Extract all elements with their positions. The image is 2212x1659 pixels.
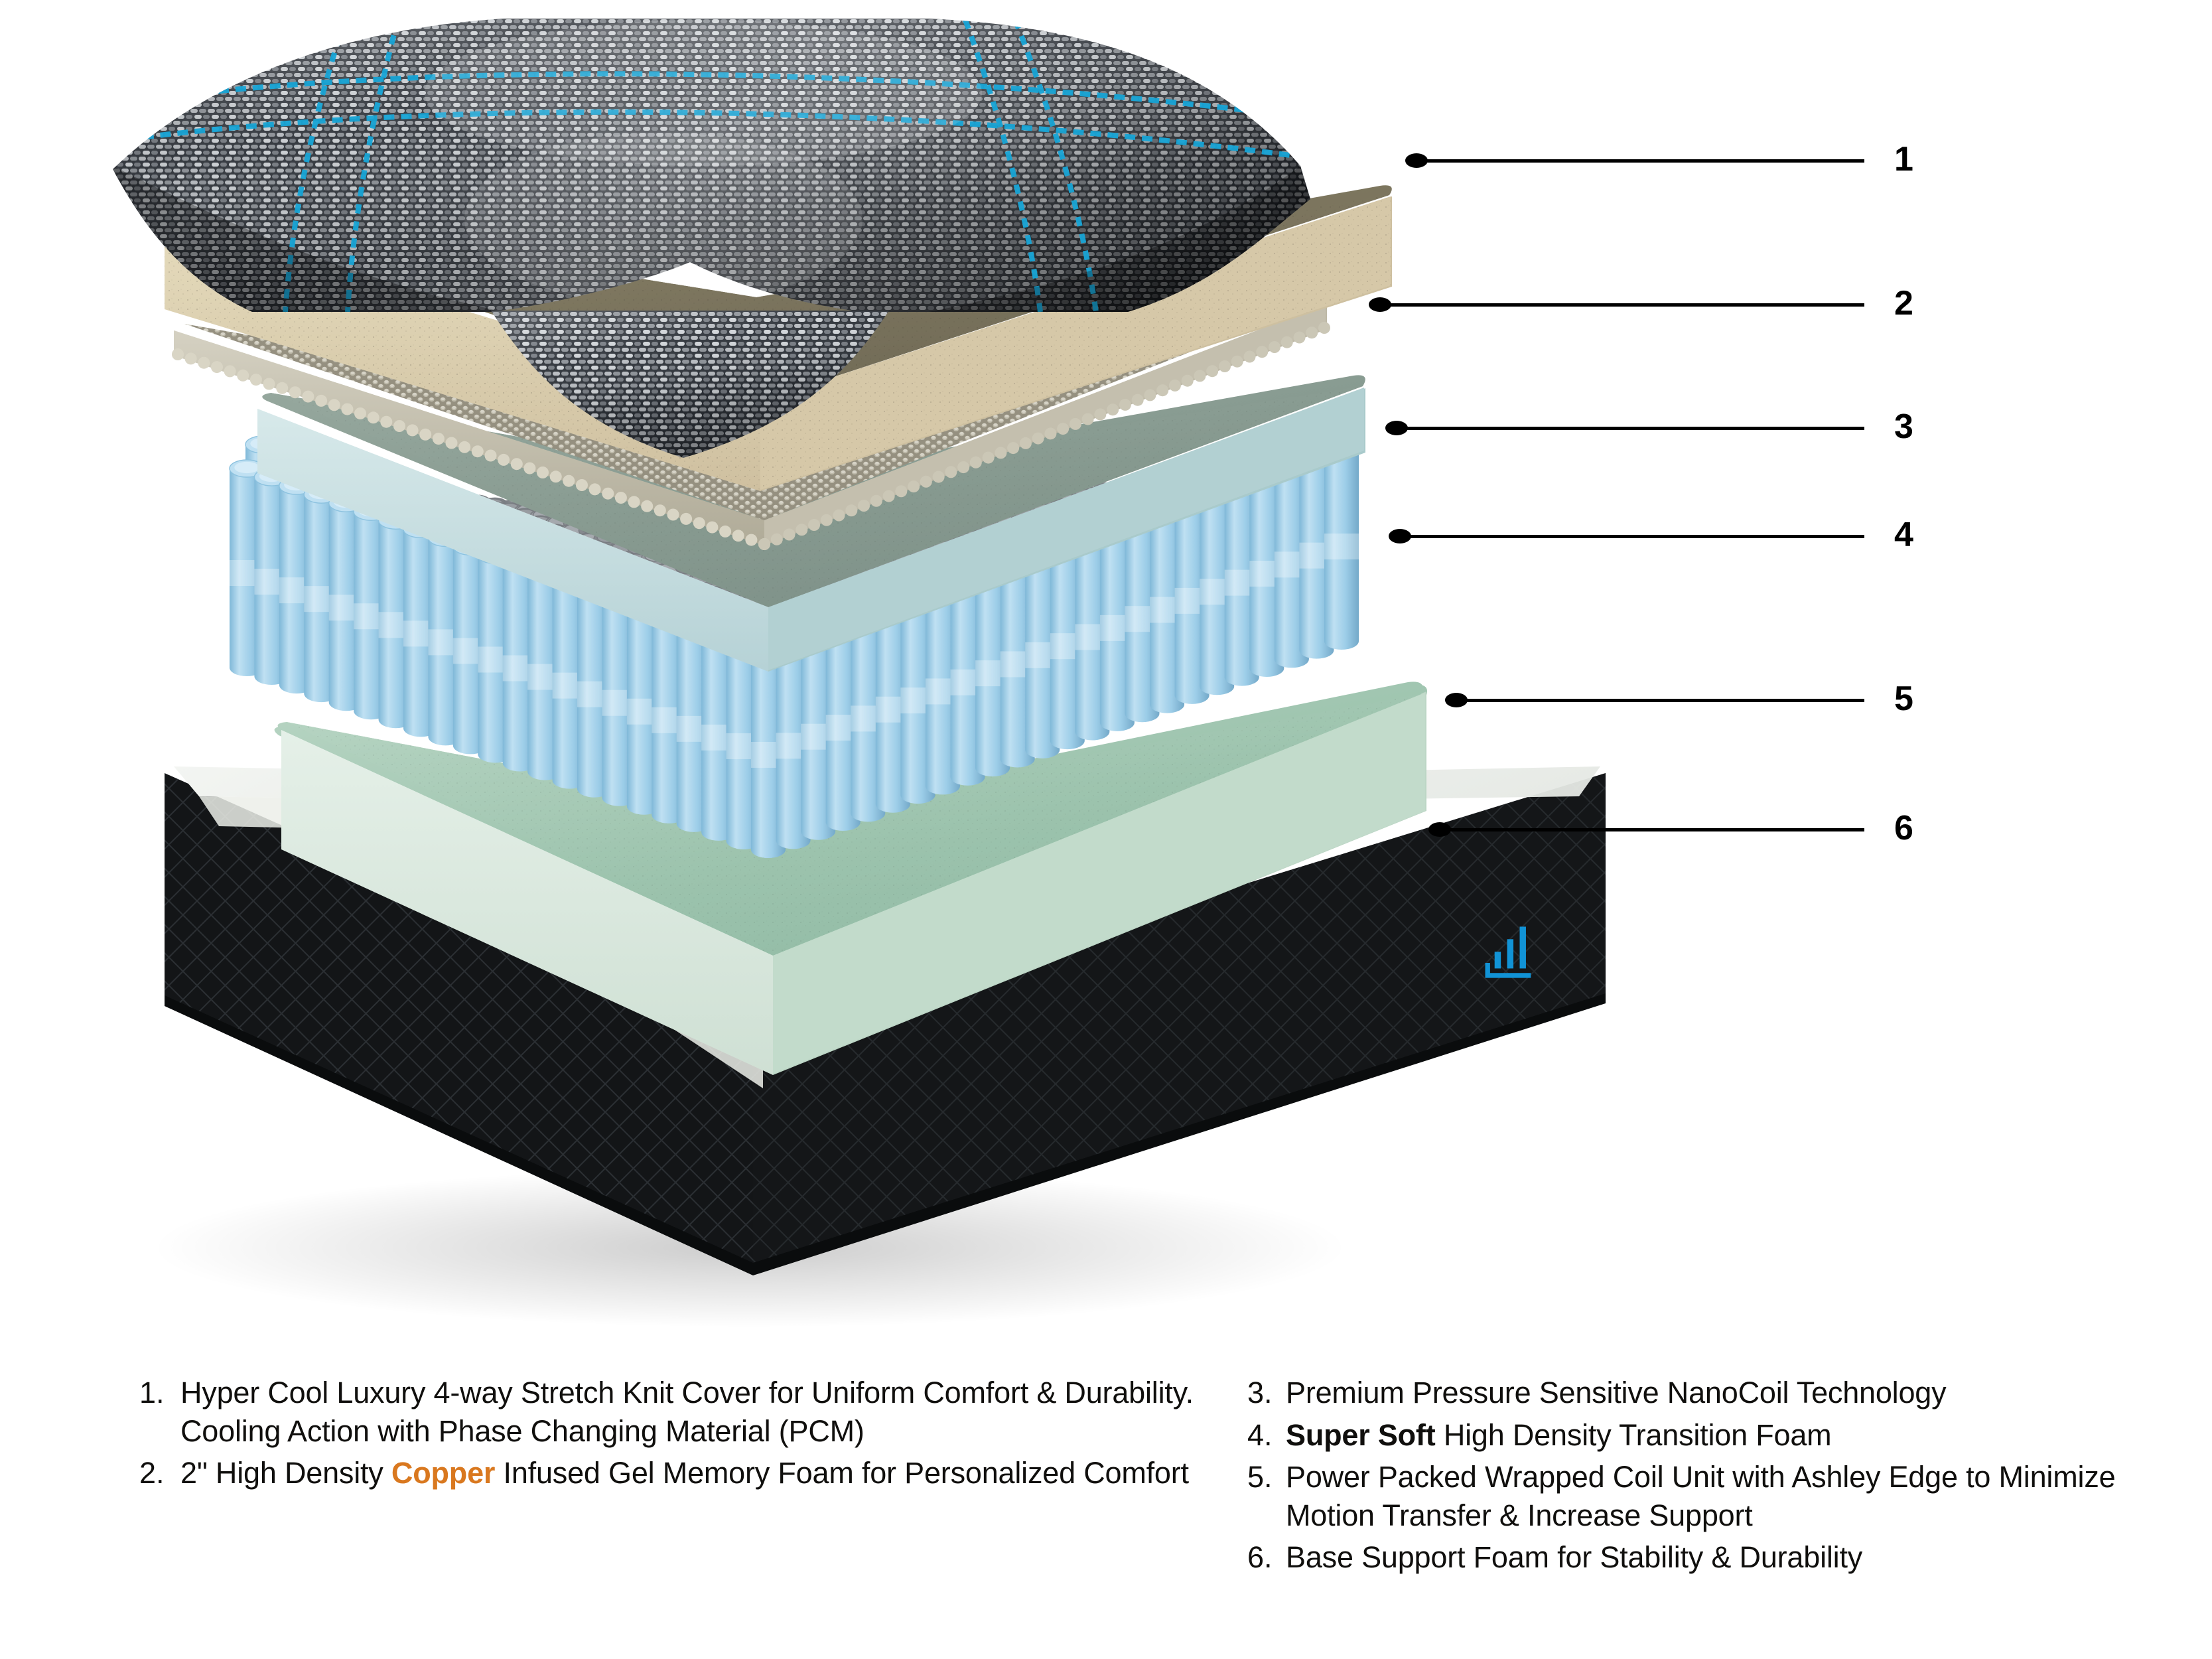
- legend-text: Power Packed Wrapped Coil Unit with Ashl…: [1286, 1458, 2189, 1534]
- callout-number-2: 2: [1894, 286, 1913, 321]
- callout-dot-6: [1428, 822, 1451, 837]
- mattress-exploded-illustration: [0, 0, 1659, 1360]
- legend-marker: 2.: [139, 1454, 180, 1492]
- callout-number-4: 4: [1894, 518, 1913, 552]
- legend-left-column: 1.Hyper Cool Luxury 4-way Stretch Knit C…: [139, 1374, 1201, 1496]
- legend-marker: 4.: [1247, 1416, 1286, 1455]
- callout-number-5: 5: [1894, 682, 1913, 716]
- legend-marker: 6.: [1247, 1538, 1286, 1577]
- legend: 1.Hyper Cool Luxury 4-way Stretch Knit C…: [0, 1374, 2212, 1659]
- diagram-canvas: 123456 1.Hyper Cool Luxury 4-way Stretch…: [0, 0, 2212, 1659]
- legend-marker: 3.: [1247, 1374, 1286, 1412]
- callout-dot-5: [1445, 693, 1468, 707]
- callout-line-3: [1407, 427, 1864, 430]
- callout-number-3: 3: [1894, 409, 1913, 444]
- callout-line-5: [1466, 699, 1864, 702]
- callout-dot-3: [1385, 421, 1408, 435]
- callout-line-1: [1426, 159, 1864, 163]
- legend-marker: 5.: [1247, 1458, 1286, 1496]
- callout-number-6: 6: [1894, 811, 1913, 845]
- hyper-cool-knit-cover: [80, 0, 1380, 458]
- callout-number-1: 1: [1894, 142, 1913, 177]
- legend-item-2: 2.2" High Density Copper Infused Gel Mem…: [139, 1454, 1201, 1492]
- legend-item-5: 5.Power Packed Wrapped Coil Unit with As…: [1247, 1458, 2189, 1534]
- legend-text: 2" High Density Copper Infused Gel Memor…: [180, 1454, 1189, 1492]
- legend-text: Super Soft High Density Transition Foam: [1286, 1416, 1831, 1455]
- callout-line-6: [1450, 828, 1864, 831]
- legend-text: Premium Pressure Sensitive NanoCoil Tech…: [1286, 1374, 1946, 1412]
- callout-dot-1: [1405, 153, 1428, 168]
- callout-line-4: [1410, 535, 1864, 538]
- legend-marker: 1.: [139, 1374, 180, 1412]
- legend-text: Base Support Foam for Stability & Durabi…: [1286, 1538, 1862, 1577]
- legend-text: Hyper Cool Luxury 4-way Stretch Knit Cov…: [180, 1374, 1201, 1450]
- legend-item-4: 4.Super Soft High Density Transition Foa…: [1247, 1416, 2189, 1455]
- callout-dot-2: [1369, 297, 1391, 312]
- callout-dot-4: [1389, 529, 1411, 543]
- legend-item-6: 6.Base Support Foam for Stability & Dura…: [1247, 1538, 2189, 1577]
- callout-line-2: [1390, 303, 1864, 307]
- legend-item-3: 3.Premium Pressure Sensitive NanoCoil Te…: [1247, 1374, 2189, 1412]
- legend-item-1: 1.Hyper Cool Luxury 4-way Stretch Knit C…: [139, 1374, 1201, 1450]
- legend-right-column: 3.Premium Pressure Sensitive NanoCoil Te…: [1247, 1374, 2189, 1581]
